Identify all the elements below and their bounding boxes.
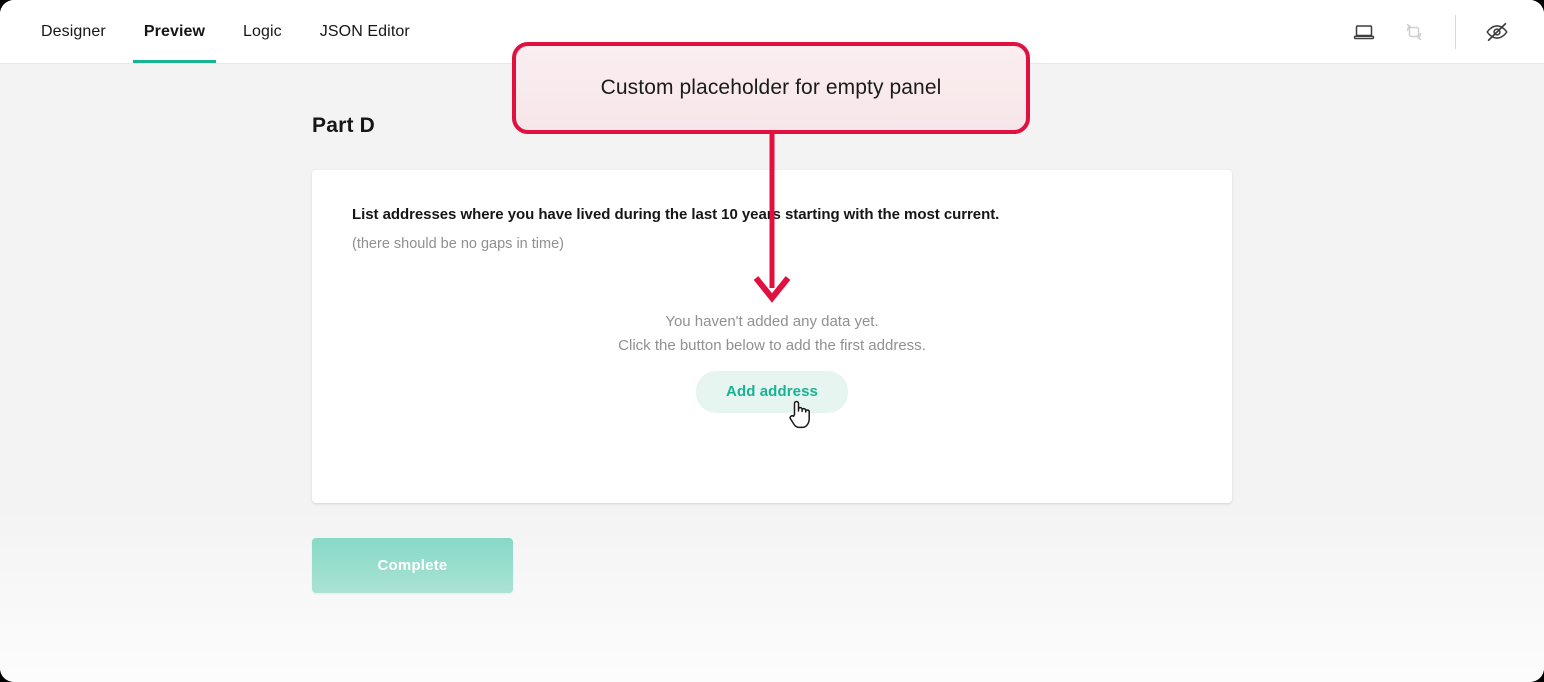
complete-button[interactable]: Complete: [312, 538, 513, 593]
tab-designer[interactable]: Designer: [22, 0, 125, 63]
annotation-arrow: [750, 130, 794, 308]
page-title: Part D: [312, 114, 375, 138]
add-address-button[interactable]: Add address: [696, 371, 848, 413]
app-window: Designer Preview Logic JSON Editor: [0, 0, 1544, 682]
tab-preview-label: Preview: [144, 23, 205, 41]
tab-json-editor-label: JSON Editor: [320, 23, 410, 41]
tab-bar: Designer Preview Logic JSON Editor: [0, 0, 429, 63]
tab-designer-label: Designer: [41, 23, 106, 41]
toolbar-actions: [1341, 0, 1544, 63]
eye-off-icon: [1484, 19, 1510, 45]
tab-logic-label: Logic: [243, 23, 282, 41]
desktop-view-button[interactable]: [1341, 9, 1387, 55]
rotate-orientation-button[interactable]: [1391, 9, 1437, 55]
annotation-callout: Custom placeholder for empty panel: [512, 42, 1030, 134]
rotate-orientation-icon: [1402, 20, 1426, 44]
desktop-view-icon: [1352, 20, 1376, 44]
empty-state-placeholder: You haven't added any data yet. Click th…: [312, 310, 1232, 413]
annotation-callout-text: Custom placeholder for empty panel: [601, 76, 942, 100]
question-title: List addresses where you have lived duri…: [352, 206, 999, 223]
empty-state-line-2: Click the button below to add the first …: [312, 334, 1232, 358]
show-invisible-elements-button[interactable]: [1474, 9, 1520, 55]
tab-json-editor[interactable]: JSON Editor: [301, 0, 429, 63]
question-description: (there should be no gaps in time): [352, 236, 564, 252]
tab-preview[interactable]: Preview: [125, 0, 224, 63]
toolbar-divider: [1455, 15, 1456, 49]
tab-logic[interactable]: Logic: [224, 0, 301, 63]
empty-state-line-1: You haven't added any data yet.: [312, 310, 1232, 334]
